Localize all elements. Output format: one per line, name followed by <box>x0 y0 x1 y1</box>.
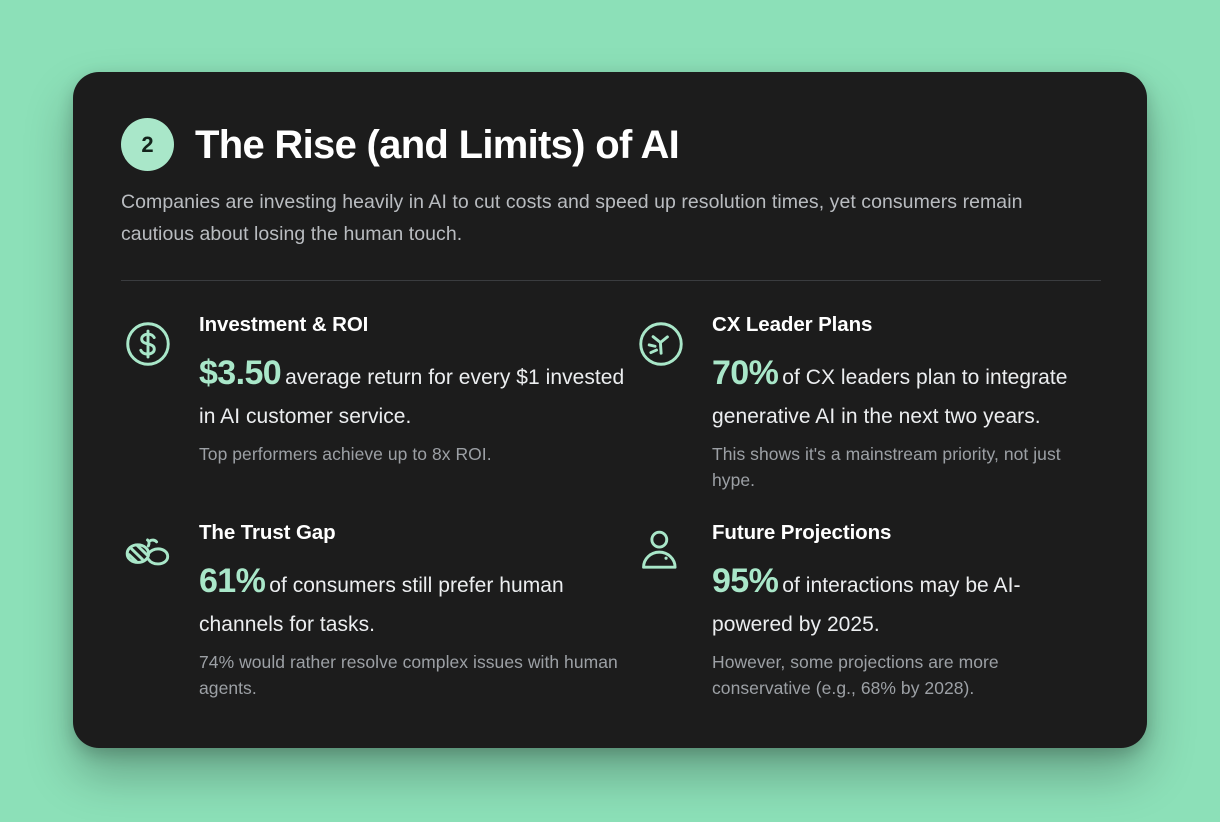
slide-stage: 2 The Rise (and Limits) of AI Companies … <box>0 0 1220 822</box>
stat-note: Top performers achieve up to 8x ROI. <box>199 441 634 467</box>
stat-statement: 95%of interactions may be AI-powered by … <box>712 555 1099 642</box>
stat-statement: $3.50average return for every $1 investe… <box>199 347 634 434</box>
stat-note: However, some projections are more conse… <box>712 649 1099 702</box>
stat-note: This shows it's a mainstream priority, n… <box>712 441 1099 494</box>
stat-title: CX Leader Plans <box>712 313 1099 338</box>
step-number-badge: 2 <box>121 118 174 171</box>
stat-statement: 61%of consumers still prefer human chann… <box>199 555 634 642</box>
page-subtitle: Companies are investing heavily in AI to… <box>121 187 1099 250</box>
stat-title: The Trust Gap <box>199 521 634 546</box>
stat-body: Future Projections 95%of interactions ma… <box>712 521 1099 701</box>
stat-figure: 95% <box>712 562 778 600</box>
stat-title: Investment & ROI <box>199 313 634 338</box>
stat-title: Future Projections <box>712 521 1099 546</box>
card-header: 2 The Rise (and Limits) of AI <box>121 118 1099 171</box>
stats-grid: Investment & ROI $3.50average return for… <box>121 313 1099 701</box>
stat-figure: 70% <box>712 354 778 392</box>
stat-card-investment-roi: Investment & ROI $3.50average return for… <box>121 313 634 493</box>
stat-body: Investment & ROI $3.50average return for… <box>199 313 634 467</box>
stat-figure: 61% <box>199 562 265 600</box>
stat-statement: 70%of CX leaders plan to integrate gener… <box>712 347 1099 434</box>
user-person-icon <box>634 525 688 579</box>
stat-body: CX Leader Plans 70%of CX leaders plan to… <box>712 313 1099 493</box>
stat-body: The Trust Gap 61%of consumers still pref… <box>199 521 634 701</box>
slide-card: 2 The Rise (and Limits) of AI Companies … <box>73 72 1147 748</box>
page-title: The Rise (and Limits) of AI <box>195 124 679 166</box>
handshake-bee-icon <box>121 525 175 579</box>
header-divider <box>121 280 1101 281</box>
stat-card-cx-leader-plans: CX Leader Plans 70%of CX leaders plan to… <box>634 313 1099 493</box>
dollar-circle-icon <box>121 317 175 371</box>
stat-note: 74% would rather resolve complex issues … <box>199 649 634 702</box>
stat-figure: $3.50 <box>199 354 281 392</box>
stat-card-trust-gap: The Trust Gap 61%of consumers still pref… <box>121 521 634 701</box>
clock-icon <box>634 317 688 371</box>
stat-card-future-projections: Future Projections 95%of interactions ma… <box>634 521 1099 701</box>
